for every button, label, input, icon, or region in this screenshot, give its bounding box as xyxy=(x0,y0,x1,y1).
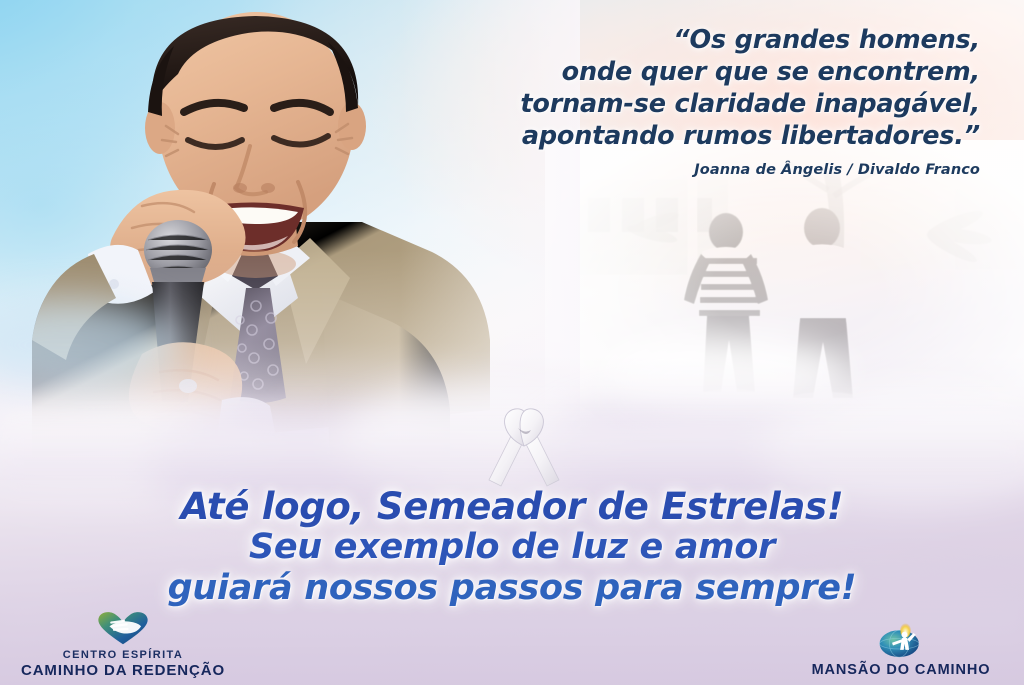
mansao-do-caminho-label: MANSÃO DO CAMINHO xyxy=(786,662,1016,679)
quote-line-2: onde quer que se encontrem, xyxy=(360,56,980,88)
mourning-ribbon-icon xyxy=(485,406,563,488)
centro-espirita-line2: CAMINHO DA REDENÇÃO xyxy=(8,662,238,679)
headline-line-3: guiará nossos passos para sempre! xyxy=(0,568,1024,609)
heart-hand-logo-icon xyxy=(95,609,151,647)
quote-attribution: Joanna de Ângelis / Divaldo Franco xyxy=(360,162,980,178)
centro-espirita-line1: CENTRO ESPÍRITA xyxy=(8,649,238,662)
quote-block: “Os grandes homens, onde quer que se enc… xyxy=(360,24,980,178)
logo-mansao-do-caminho: MANSÃO DO CAMINHO xyxy=(786,622,1016,679)
quote-line-3: tornam-se claridade inapagável, xyxy=(360,88,980,120)
headline-line-2: Seu exemplo de luz e amor xyxy=(0,527,1024,568)
quote-line-1: “Os grandes homens, xyxy=(360,24,980,56)
memorial-poster: “Os grandes homens, onde quer que se enc… xyxy=(0,0,1024,685)
headline-line-1: Até logo, Semeador de Estrelas! xyxy=(0,486,1024,527)
logo-centro-espirita: CENTRO ESPÍRITA CAMINHO DA REDENÇÃO xyxy=(8,609,238,679)
quote-line-4: apontando rumos libertadores.” xyxy=(360,120,980,152)
headline-block: Até logo, Semeador de Estrelas! Seu exem… xyxy=(0,486,1024,609)
globe-figure-logo-icon xyxy=(876,622,926,660)
